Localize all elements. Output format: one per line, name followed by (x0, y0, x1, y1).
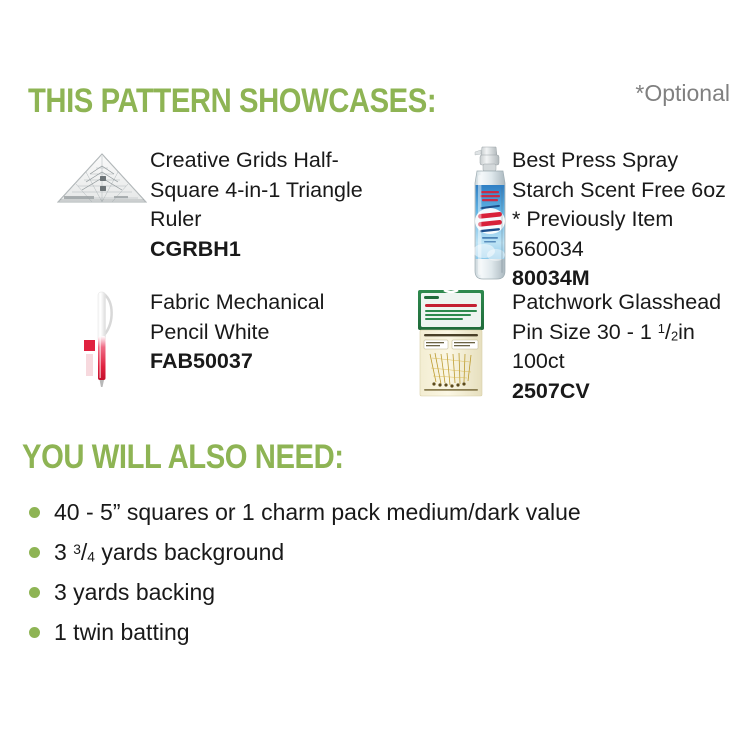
list-item-batting-text: 1 twin batting (54, 619, 190, 645)
pin-fraction-denominator: 2 (671, 328, 678, 343)
product-ruler-text: Creative Grids Half- Square 4-in-1 Trian… (150, 146, 400, 264)
page-title-this-pattern-showcases: THIS PATTERN SHOWCASES: (28, 84, 436, 118)
product-spray-line-1: Best Press Spray (512, 146, 750, 176)
product-ruler-line-3: Ruler (150, 205, 400, 235)
bullet-icon (29, 587, 40, 598)
list-item-backing: 3 yards backing (24, 572, 724, 612)
clover-pin-package-image (412, 288, 490, 398)
list-item-background: 3 3/4 yards background (24, 532, 724, 572)
product-spray-line-2: Starch Scent Free 6oz (512, 176, 750, 206)
product-pencil-line-1: Fabric Mechanical (150, 288, 400, 318)
bullet-icon (29, 507, 40, 518)
pin-fraction-numerator: 1 (658, 321, 665, 336)
materials-list: 40 - 5” squares or 1 charm pack medium/d… (24, 492, 724, 652)
list-item-squares-text: 40 - 5” squares or 1 charm pack medium/d… (54, 499, 581, 525)
background-fraction-numerator: 3 (73, 542, 81, 557)
list-item-backing-text: 3 yards backing (54, 579, 215, 605)
product-pins-pin-prefix: Pin Size 30 - 1 (512, 320, 658, 344)
product-ruler-line-2: Square 4-in-1 Triangle (150, 176, 400, 206)
bullet-icon (29, 547, 40, 558)
pattern-supplies-page: THIS PATTERN SHOWCASES: *Optional (0, 0, 750, 750)
product-pencil-sku: FAB50037 (150, 347, 400, 377)
product-spray-text: Best Press Spray Starch Scent Free 6oz *… (512, 146, 750, 294)
product-pins-text: Patchwork Glasshead Pin Size 30 - 1 1/2i… (512, 288, 750, 406)
list-item-batting: 1 twin batting (24, 612, 724, 652)
section-title-you-will-also-need: YOU WILL ALSO NEED: (22, 440, 344, 474)
product-pins-pin-suffix: in (678, 320, 695, 344)
product-pins-sku: 2507CV (512, 377, 750, 407)
product-spray-line-3: * Previously Item (512, 205, 750, 235)
list-item-background-prefix: 3 (54, 539, 73, 565)
triangle-ruler-image (56, 150, 148, 208)
pin-size-fraction: 1/2 (658, 318, 678, 348)
product-ruler-sku: CGRBH1 (150, 235, 400, 265)
product-pins-line-2-composite: Pin Size 30 - 1 1/2in (512, 318, 750, 348)
product-ruler-line-1: Creative Grids Half- (150, 146, 400, 176)
background-yards-fraction: 3/4 (73, 532, 95, 572)
optional-note: *Optional (635, 80, 730, 107)
product-pencil-text: Fabric Mechanical Pencil White FAB50037 (150, 288, 400, 377)
list-item-background-suffix: yards background (95, 539, 284, 565)
product-pins-line-1: Patchwork Glasshead (512, 288, 750, 318)
product-pins-line-3: 100ct (512, 347, 750, 377)
product-spray-line-4: 560034 (512, 235, 750, 265)
mechanical-pencil-image (74, 288, 126, 388)
product-pencil-line-2: Pencil White (150, 318, 400, 348)
background-fraction-denominator: 4 (87, 550, 95, 565)
list-item-squares: 40 - 5” squares or 1 charm pack medium/d… (24, 492, 724, 532)
bullet-icon (29, 627, 40, 638)
best-press-spray-bottle-image (462, 143, 518, 283)
